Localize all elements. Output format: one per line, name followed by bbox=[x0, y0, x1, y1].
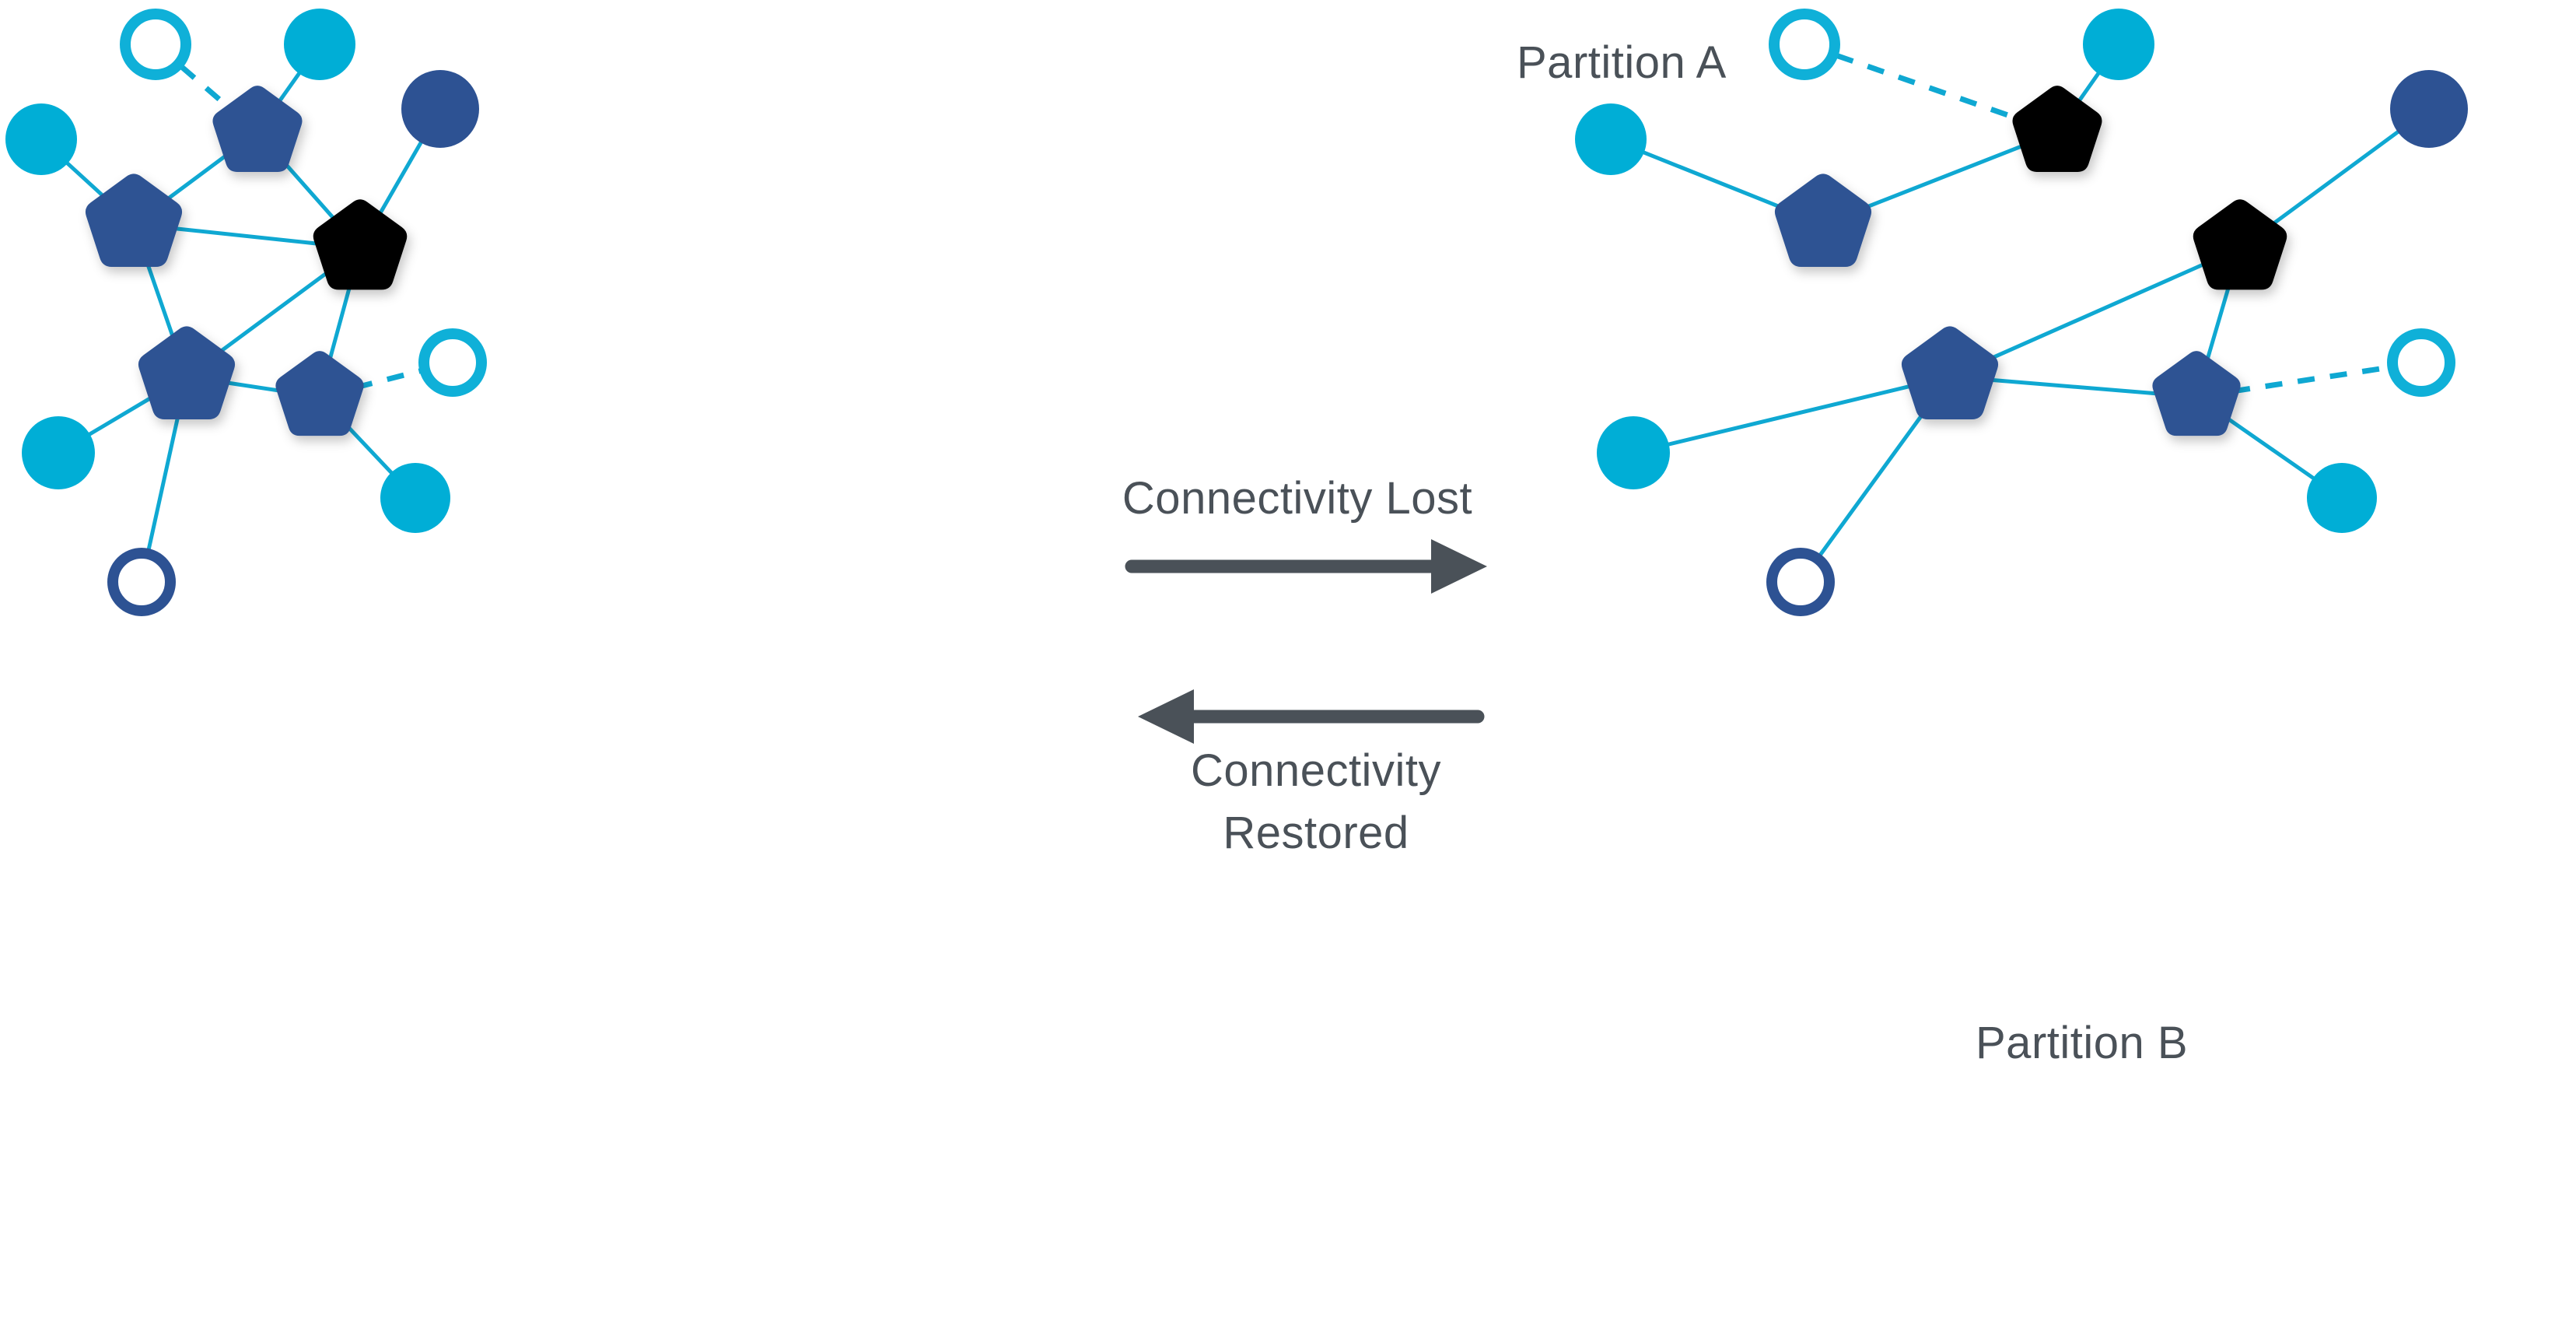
arrow-connectivity-lost bbox=[1132, 539, 1487, 594]
node-L-pent-top[interactable] bbox=[212, 86, 302, 172]
right-edge-R-pent-black-b-to-R-pent-lowleft bbox=[1987, 265, 2204, 360]
right-edge-R-pent-navy-a-to-R-pent-black-a bbox=[1861, 146, 2022, 209]
left-edge-L-pent-top-to-L-pent-midleft bbox=[166, 155, 227, 200]
left-edge-L-pent-lowmid-to-L-hollow-cyan-right bbox=[355, 371, 421, 388]
node-R-pent-black-b[interactable] bbox=[2193, 199, 2287, 289]
right-edge-R-pent-black-b-to-R-pent-lowmid bbox=[2207, 286, 2228, 362]
right-edge-R-cyan-top-right-to-R-pent-black-a bbox=[2079, 72, 2099, 101]
right-edge-R-pent-lowmid-to-R-cyan-bottom-right bbox=[2227, 418, 2315, 478]
left-edge-L-navy-circle-to-L-pent-black bbox=[380, 142, 422, 214]
right-edge-R-pent-lowleft-to-R-hollow-navy bbox=[1820, 409, 1927, 556]
connectivity-restored-label-line2: Restored bbox=[1223, 808, 1409, 858]
node-L-navy-circle[interactable] bbox=[401, 70, 479, 148]
node-R-cyan-left[interactable] bbox=[1575, 103, 1647, 175]
left-edge-L-pent-black-to-L-pent-lowleft bbox=[219, 272, 328, 352]
right-graph-nodes bbox=[1575, 9, 2468, 611]
partition-b-label: Partition B bbox=[1976, 1018, 2188, 1068]
partition-a-label: Partition A bbox=[1517, 37, 1727, 88]
node-L-hollow-cyan-right[interactable] bbox=[424, 334, 481, 391]
node-L-cyan-bottom-right[interactable] bbox=[380, 463, 450, 533]
connectivity-restored-label-line1: Connectivity bbox=[1191, 745, 1441, 796]
node-R-pent-lowmid[interactable] bbox=[2152, 351, 2240, 436]
right-edge-R-pent-lowleft-to-R-cyan-bottom-left bbox=[1668, 386, 1910, 444]
node-R-hollow-cyan-top[interactable] bbox=[1774, 14, 1835, 75]
node-L-pent-midleft[interactable] bbox=[86, 174, 182, 267]
arrow-connectivity-restored bbox=[1138, 689, 1478, 744]
left-edge-L-pent-top-to-L-pent-black bbox=[282, 160, 334, 219]
node-L-hollow-navy[interactable] bbox=[113, 553, 170, 611]
node-R-cyan-bottom-left[interactable] bbox=[1597, 416, 1670, 489]
left-edge-L-cyan-left-to-L-pent-midleft bbox=[66, 163, 103, 197]
right-edge-R-navy-circle-to-R-pent-black-b bbox=[2272, 131, 2399, 225]
node-R-cyan-bottom-right[interactable] bbox=[2307, 463, 2377, 533]
node-R-pent-black-a[interactable] bbox=[2012, 86, 2102, 172]
node-R-navy-circle[interactable] bbox=[2390, 70, 2468, 148]
node-R-hollow-navy[interactable] bbox=[1772, 553, 1829, 611]
center-transition-arrows bbox=[1132, 539, 1487, 744]
connectivity-lost-label: Connectivity Lost bbox=[1122, 473, 1472, 524]
node-L-cyan-top-right[interactable] bbox=[284, 9, 355, 80]
node-R-pent-navy-a[interactable] bbox=[1775, 174, 1871, 267]
left-edge-L-pent-midleft-to-L-pent-black bbox=[174, 229, 320, 244]
left-edge-L-cyan-top-right-to-L-pent-top bbox=[279, 72, 300, 102]
network-partition-diagram: Connectivity Lost Connectivity Restored … bbox=[0, 0, 2576, 1332]
left-graph-nodes bbox=[5, 9, 481, 611]
right-edge-R-pent-lowleft-to-R-pent-lowmid bbox=[1990, 380, 2159, 394]
left-edge-L-pent-midleft-to-L-pent-lowleft bbox=[147, 263, 173, 338]
left-edge-L-pent-lowleft-to-L-cyan-bottom-left bbox=[89, 398, 152, 435]
right-edge-R-hollow-cyan-top-to-R-pent-black-a bbox=[1837, 55, 2022, 120]
left-edge-L-pent-lowleft-to-L-hollow-navy bbox=[149, 416, 178, 550]
node-L-pent-lowmid[interactable] bbox=[275, 351, 363, 436]
right-edge-R-pent-lowmid-to-R-hollow-cyan-right bbox=[2233, 367, 2389, 391]
node-L-hollow-cyan-top[interactable] bbox=[125, 14, 186, 75]
right-edge-R-cyan-left-to-R-pent-navy-a bbox=[1643, 152, 1785, 209]
node-R-cyan-top-right[interactable] bbox=[2083, 9, 2154, 80]
node-L-cyan-left[interactable] bbox=[5, 103, 77, 175]
left-edge-L-pent-lowmid-to-L-cyan-bottom-right bbox=[345, 424, 393, 474]
diagram-canvas: Connectivity Lost Connectivity Restored … bbox=[0, 0, 2576, 1332]
left-edge-L-hollow-cyan-top-to-L-pent-top bbox=[181, 67, 229, 108]
node-R-pent-lowleft[interactable] bbox=[1902, 326, 1998, 419]
left-edge-L-pent-black-to-L-pent-lowmid bbox=[330, 286, 350, 361]
node-L-cyan-bottom-left[interactable] bbox=[22, 416, 95, 489]
node-R-hollow-cyan-right[interactable] bbox=[2392, 334, 2450, 391]
left-edge-L-pent-lowleft-to-L-pent-lowmid bbox=[227, 383, 283, 391]
node-L-pent-lowleft[interactable] bbox=[138, 326, 235, 419]
